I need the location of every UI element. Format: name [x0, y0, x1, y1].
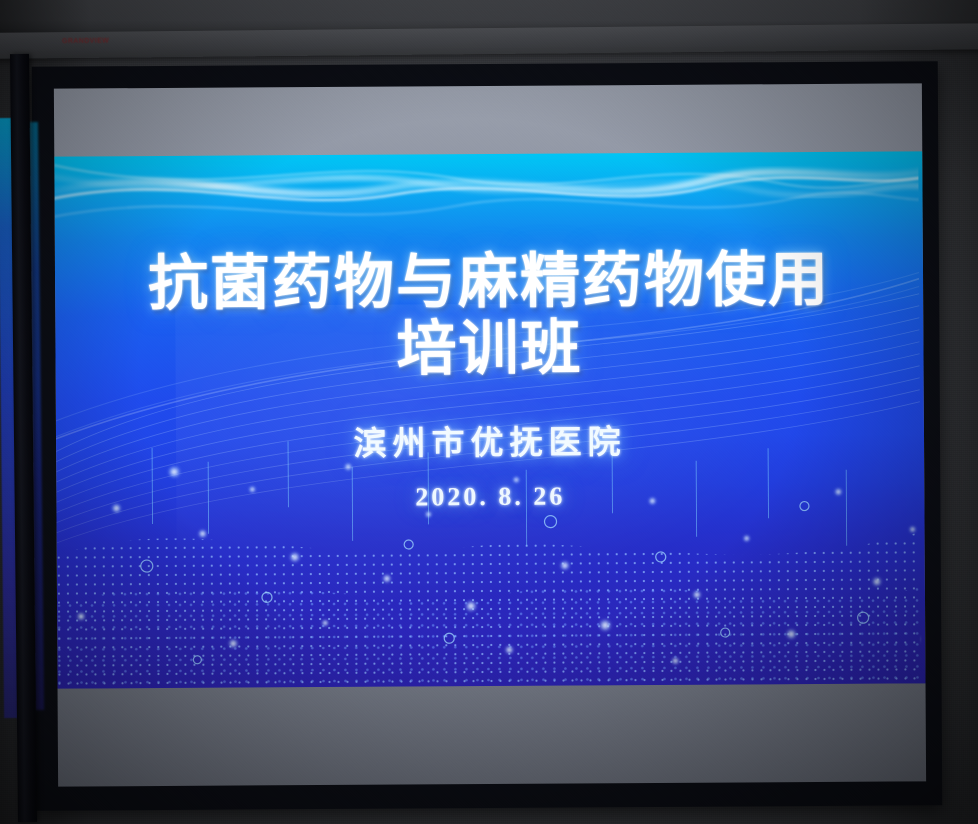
slide-title-line-1: 抗菌药物与麻精药物使用 — [148, 248, 830, 317]
slide-date: 2020. 8. 26 — [415, 481, 565, 512]
projection-screen-frame: 抗菌药物与麻精药物使用 培训班 滨州市优抚医院 2020. 8. 26 — [32, 61, 943, 811]
photo-scene: GRANDVIEW — [0, 0, 978, 824]
projection-screen-surface: 抗菌药物与麻精药物使用 培训班 滨州市优抚医院 2020. 8. 26 — [54, 83, 926, 786]
screen-brand-label: GRANDVIEW — [62, 38, 109, 45]
slide-organization: 滨州市优抚医院 — [353, 415, 626, 465]
slide-text-block: 抗菌药物与麻精药物使用 培训班 滨州市优抚医院 2020. 8. 26 — [54, 151, 925, 688]
projected-slide: 抗菌药物与麻精药物使用 培训班 滨州市优抚医院 2020. 8. 26 — [54, 151, 925, 688]
slide-title-line-2: 培训班 — [396, 316, 582, 382]
